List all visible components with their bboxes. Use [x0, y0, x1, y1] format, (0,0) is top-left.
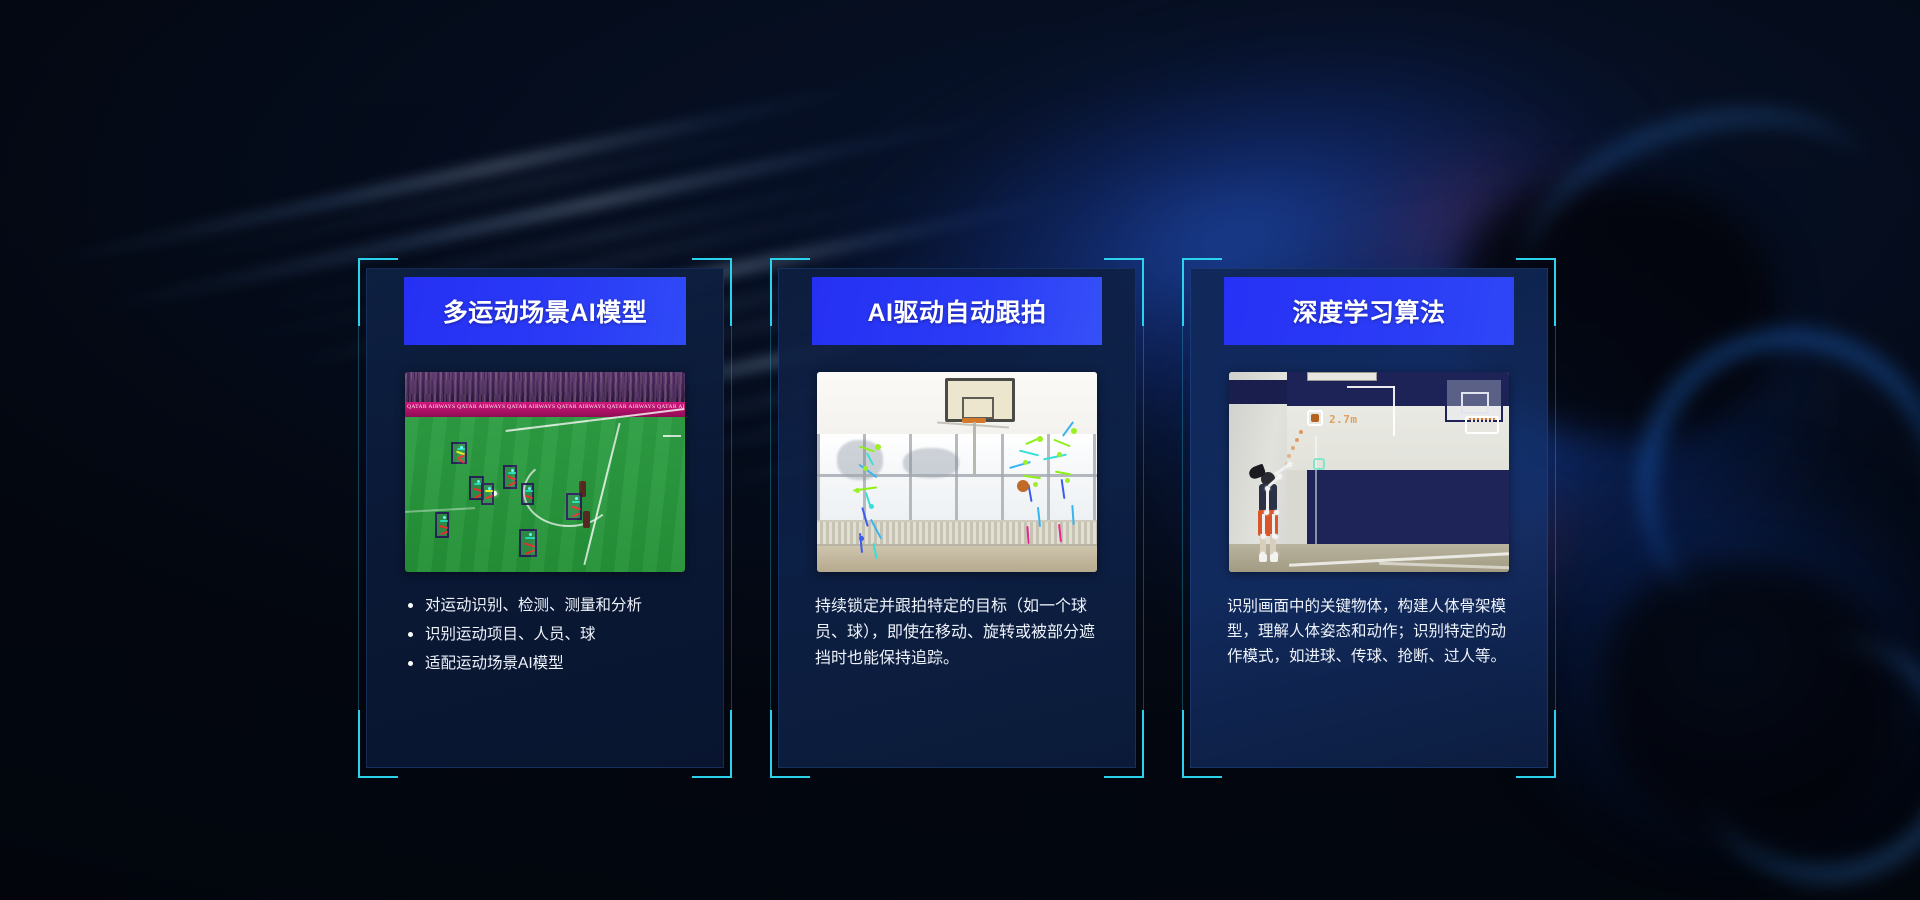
feature-card-deep-learning-algorithm[interactable]: 深度学习算法 [1182, 258, 1556, 778]
scoreboard [1307, 372, 1377, 381]
secondary-tracking-marker [1313, 458, 1325, 470]
measure-guide-vertical [1393, 386, 1395, 436]
list-item: 适配运动场景AI模型 [403, 652, 687, 675]
card-body: 对运动识别、检测、测量和分析 识别运动项目、人员、球 适配运动场景AI模型 [401, 594, 689, 681]
feature-bullet-list: 对运动识别、检测、测量和分析 识别运动项目、人员、球 适配运动场景AI模型 [403, 594, 687, 675]
list-item: 识别运动项目、人员、球 [403, 623, 687, 646]
basketball [1017, 480, 1029, 492]
shooting-trajectory-measure-preview[interactable]: 2.7m [1229, 372, 1509, 572]
basketball-backboard [945, 378, 1015, 422]
card-title: AI驱动自动跟拍 [812, 277, 1102, 345]
pitch-surface [405, 417, 685, 572]
card-panel: AI驱动自动跟拍 [778, 268, 1136, 768]
measure-label: 2.7m [1329, 413, 1358, 426]
feature-card-multi-sport-ai-model[interactable]: 多运动场景AI模型 QATAR AIRWAYSQATAR AIRWAYS QAT… [358, 258, 732, 778]
card-title: 多运动场景AI模型 [404, 277, 686, 345]
pose-skeleton-left-player [853, 444, 893, 564]
gym-basketball-pose-preview[interactable] [817, 372, 1097, 572]
measure-guide-horizontal [1347, 386, 1395, 388]
soccer-pitch-detection-preview[interactable]: QATAR AIRWAYSQATAR AIRWAYS QATAR AIRWAYS… [405, 372, 685, 572]
slide-canvas: 多运动场景AI模型 QATAR AIRWAYSQATAR AIRWAYS QAT… [0, 0, 1920, 900]
hoop-pole [973, 422, 976, 476]
feature-description: 持续锁定并跟拍特定的目标（如一个球员、球），即使在移动、旋转或被部分遮挡时也能保… [815, 594, 1099, 672]
feature-card-ai-auto-tracking[interactable]: AI驱动自动跟拍 [770, 258, 1144, 778]
player-pose-skeleton [1249, 458, 1295, 566]
card-body: 持续锁定并跟拍特定的目标（如一个球员、球），即使在移动、旋转或被部分遮挡时也能保… [813, 594, 1101, 672]
card-panel: 多运动场景AI模型 QATAR AIRWAYSQATAR AIRWAYS QAT… [366, 268, 724, 768]
feature-description: 识别画面中的关键物体，构建人体骨架模型，理解人体姿态和动作；识别特定的动作模式，… [1227, 594, 1511, 669]
hoop-tracking-box [1465, 416, 1499, 434]
list-item: 对运动识别、检测、测量和分析 [403, 594, 687, 617]
pose-skeleton-right-player-b [1045, 428, 1091, 564]
feature-cards-row: 多运动场景AI模型 QATAR AIRWAYSQATAR AIRWAYS QAT… [358, 258, 1558, 778]
card-title: 深度学习算法 [1224, 277, 1514, 345]
card-body: 识别画面中的关键物体，构建人体骨架模型，理解人体姿态和动作；识别特定的动作模式，… [1225, 594, 1513, 669]
stadium-crowd [405, 372, 685, 402]
card-panel: 深度学习算法 [1190, 268, 1548, 768]
ball-tracking-box [1307, 410, 1323, 426]
measure-guide-drop [1315, 436, 1317, 544]
court-lower-padding [1307, 470, 1509, 544]
